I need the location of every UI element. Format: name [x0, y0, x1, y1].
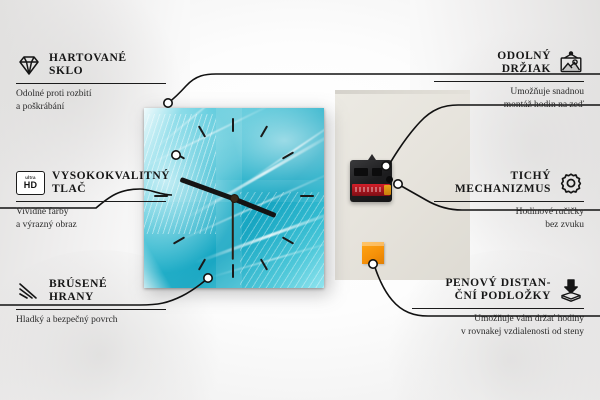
ultra-hd-badge-icon: ultra HD	[16, 171, 45, 195]
feature-subtitle: Umožňuje snadnou montáž hodin na zeď	[434, 86, 584, 112]
feature-title-line-1: ODOLNÝ	[497, 50, 551, 63]
feature-hardened-glass[interactable]: HARTOVANÉ SKLO Odolné proti rozbití a po…	[16, 52, 166, 113]
feature-divider	[16, 201, 166, 202]
feature-beveled-edges[interactable]: BRÚSENÉ HRANY Hladký a bezpečný povrch	[16, 278, 166, 327]
connector-line-odolny	[389, 105, 600, 165]
feature-divider	[412, 308, 584, 309]
feature-subtitle-line-1: Umožňuje vám držať hodiny	[412, 313, 584, 326]
feature-subtitle: Odolné proti rozbití a poškrábání	[16, 88, 166, 114]
infographic-canvas: HARTOVANÉ SKLO Odolné proti rozbití a po…	[0, 0, 600, 400]
feature-title-line-2: DRŽIAK	[502, 63, 551, 76]
feature-titles: ODOLNÝ DRŽIAK	[497, 50, 551, 76]
gear-icon	[558, 171, 584, 195]
callout-hotspot-edges	[204, 274, 212, 282]
feature-high-quality-print[interactable]: ultra HD VYSOKOKVALITNÝ TLAČ Vividné far…	[16, 170, 166, 231]
feature-silent-mechanism[interactable]: TICHÝ MECHANIZMUS Hodinové ručičky bez z…	[434, 170, 584, 231]
feature-subtitle-line-1: Odolné proti rozbití	[16, 88, 166, 101]
feature-title-line-1: TICHÝ	[511, 170, 551, 183]
callout-hotspot-foam	[369, 260, 377, 268]
feature-title-line-2: MECHANIZMUS	[455, 183, 551, 196]
beveled-edges-icon	[16, 279, 42, 303]
feature-subtitle-line-1: Hodinové ručičky	[434, 206, 584, 219]
feature-titles: TICHÝ MECHANIZMUS	[455, 170, 551, 196]
feature-title-line-2: ČNÍ PODLOŽKY	[455, 290, 551, 303]
feature-subtitle-line-2: a poškrábání	[16, 101, 166, 114]
badge-main-text: HD	[24, 181, 37, 190]
feature-title-line-2: HRANY	[49, 291, 107, 304]
feature-title-line-1: VYSOKOKVALITNÝ	[52, 170, 170, 183]
feature-header: TICHÝ MECHANIZMUS	[434, 170, 584, 196]
feature-divider	[434, 81, 584, 82]
feature-subtitle: Umožňuje vám držať hodiny v rovnakej vzd…	[412, 313, 584, 339]
feature-subtitle: Hodinové ručičky bez zvuku	[434, 206, 584, 232]
feature-header: HARTOVANÉ SKLO	[16, 52, 166, 78]
feature-subtitle-line-2: bez zvuku	[434, 219, 584, 232]
feature-title-line-2: TLAČ	[52, 183, 170, 196]
feature-divider	[16, 83, 166, 84]
feature-durable-hanger[interactable]: ODOLNÝ DRŽIAK Umožňuje snadnou montáž ho…	[434, 50, 584, 111]
feature-subtitle-line-2: v rovnakej vzdialenosti od steny	[412, 326, 584, 339]
callout-hotspot-print	[172, 151, 180, 159]
feature-header: PENOVÝ DISTAN- ČNÍ PODLOŽKY	[412, 277, 584, 303]
callout-hotspot-hanger	[382, 162, 390, 170]
diamond-icon	[16, 53, 42, 77]
picture-hanger-icon	[558, 51, 584, 75]
feature-divider	[434, 201, 584, 202]
callout-hotspot-mechanism	[394, 180, 402, 188]
feature-subtitle: Hladký a bezpečný povrch	[16, 314, 166, 327]
feature-header: ODOLNÝ DRŽIAK	[434, 50, 584, 76]
feature-titles: VYSOKOKVALITNÝ TLAČ	[52, 170, 170, 196]
feature-foam-spacers[interactable]: PENOVÝ DISTAN- ČNÍ PODLOŽKY Umožňuje vám…	[412, 277, 584, 338]
feature-subtitle-line-1: Umožňuje snadnou	[434, 86, 584, 99]
feature-titles: PENOVÝ DISTAN- ČNÍ PODLOŽKY	[445, 277, 551, 303]
feature-title-line-1: BRÚSENÉ	[49, 278, 107, 291]
feature-title-line-1: HARTOVANÉ	[49, 52, 127, 65]
feature-subtitle-line-1: Vividné farby	[16, 206, 166, 219]
feature-subtitle: Vividné farby a výrazný obraz	[16, 206, 166, 232]
feature-header: BRÚSENÉ HRANY	[16, 278, 166, 304]
feature-titles: BRÚSENÉ HRANY	[49, 278, 107, 304]
feature-title-line-2: SKLO	[49, 65, 127, 78]
feature-divider	[16, 309, 166, 310]
foam-spacer-icon	[558, 278, 584, 302]
feature-title-line-1: PENOVÝ DISTAN-	[445, 277, 551, 290]
feature-titles: HARTOVANÉ SKLO	[49, 52, 127, 78]
feature-subtitle-line-1: Hladký a bezpečný povrch	[16, 314, 166, 327]
feature-subtitle-line-2: a výrazný obraz	[16, 219, 166, 232]
feature-header: ultra HD VYSOKOKVALITNÝ TLAČ	[16, 170, 166, 196]
feature-subtitle-line-2: montáž hodin na zeď	[434, 99, 584, 112]
